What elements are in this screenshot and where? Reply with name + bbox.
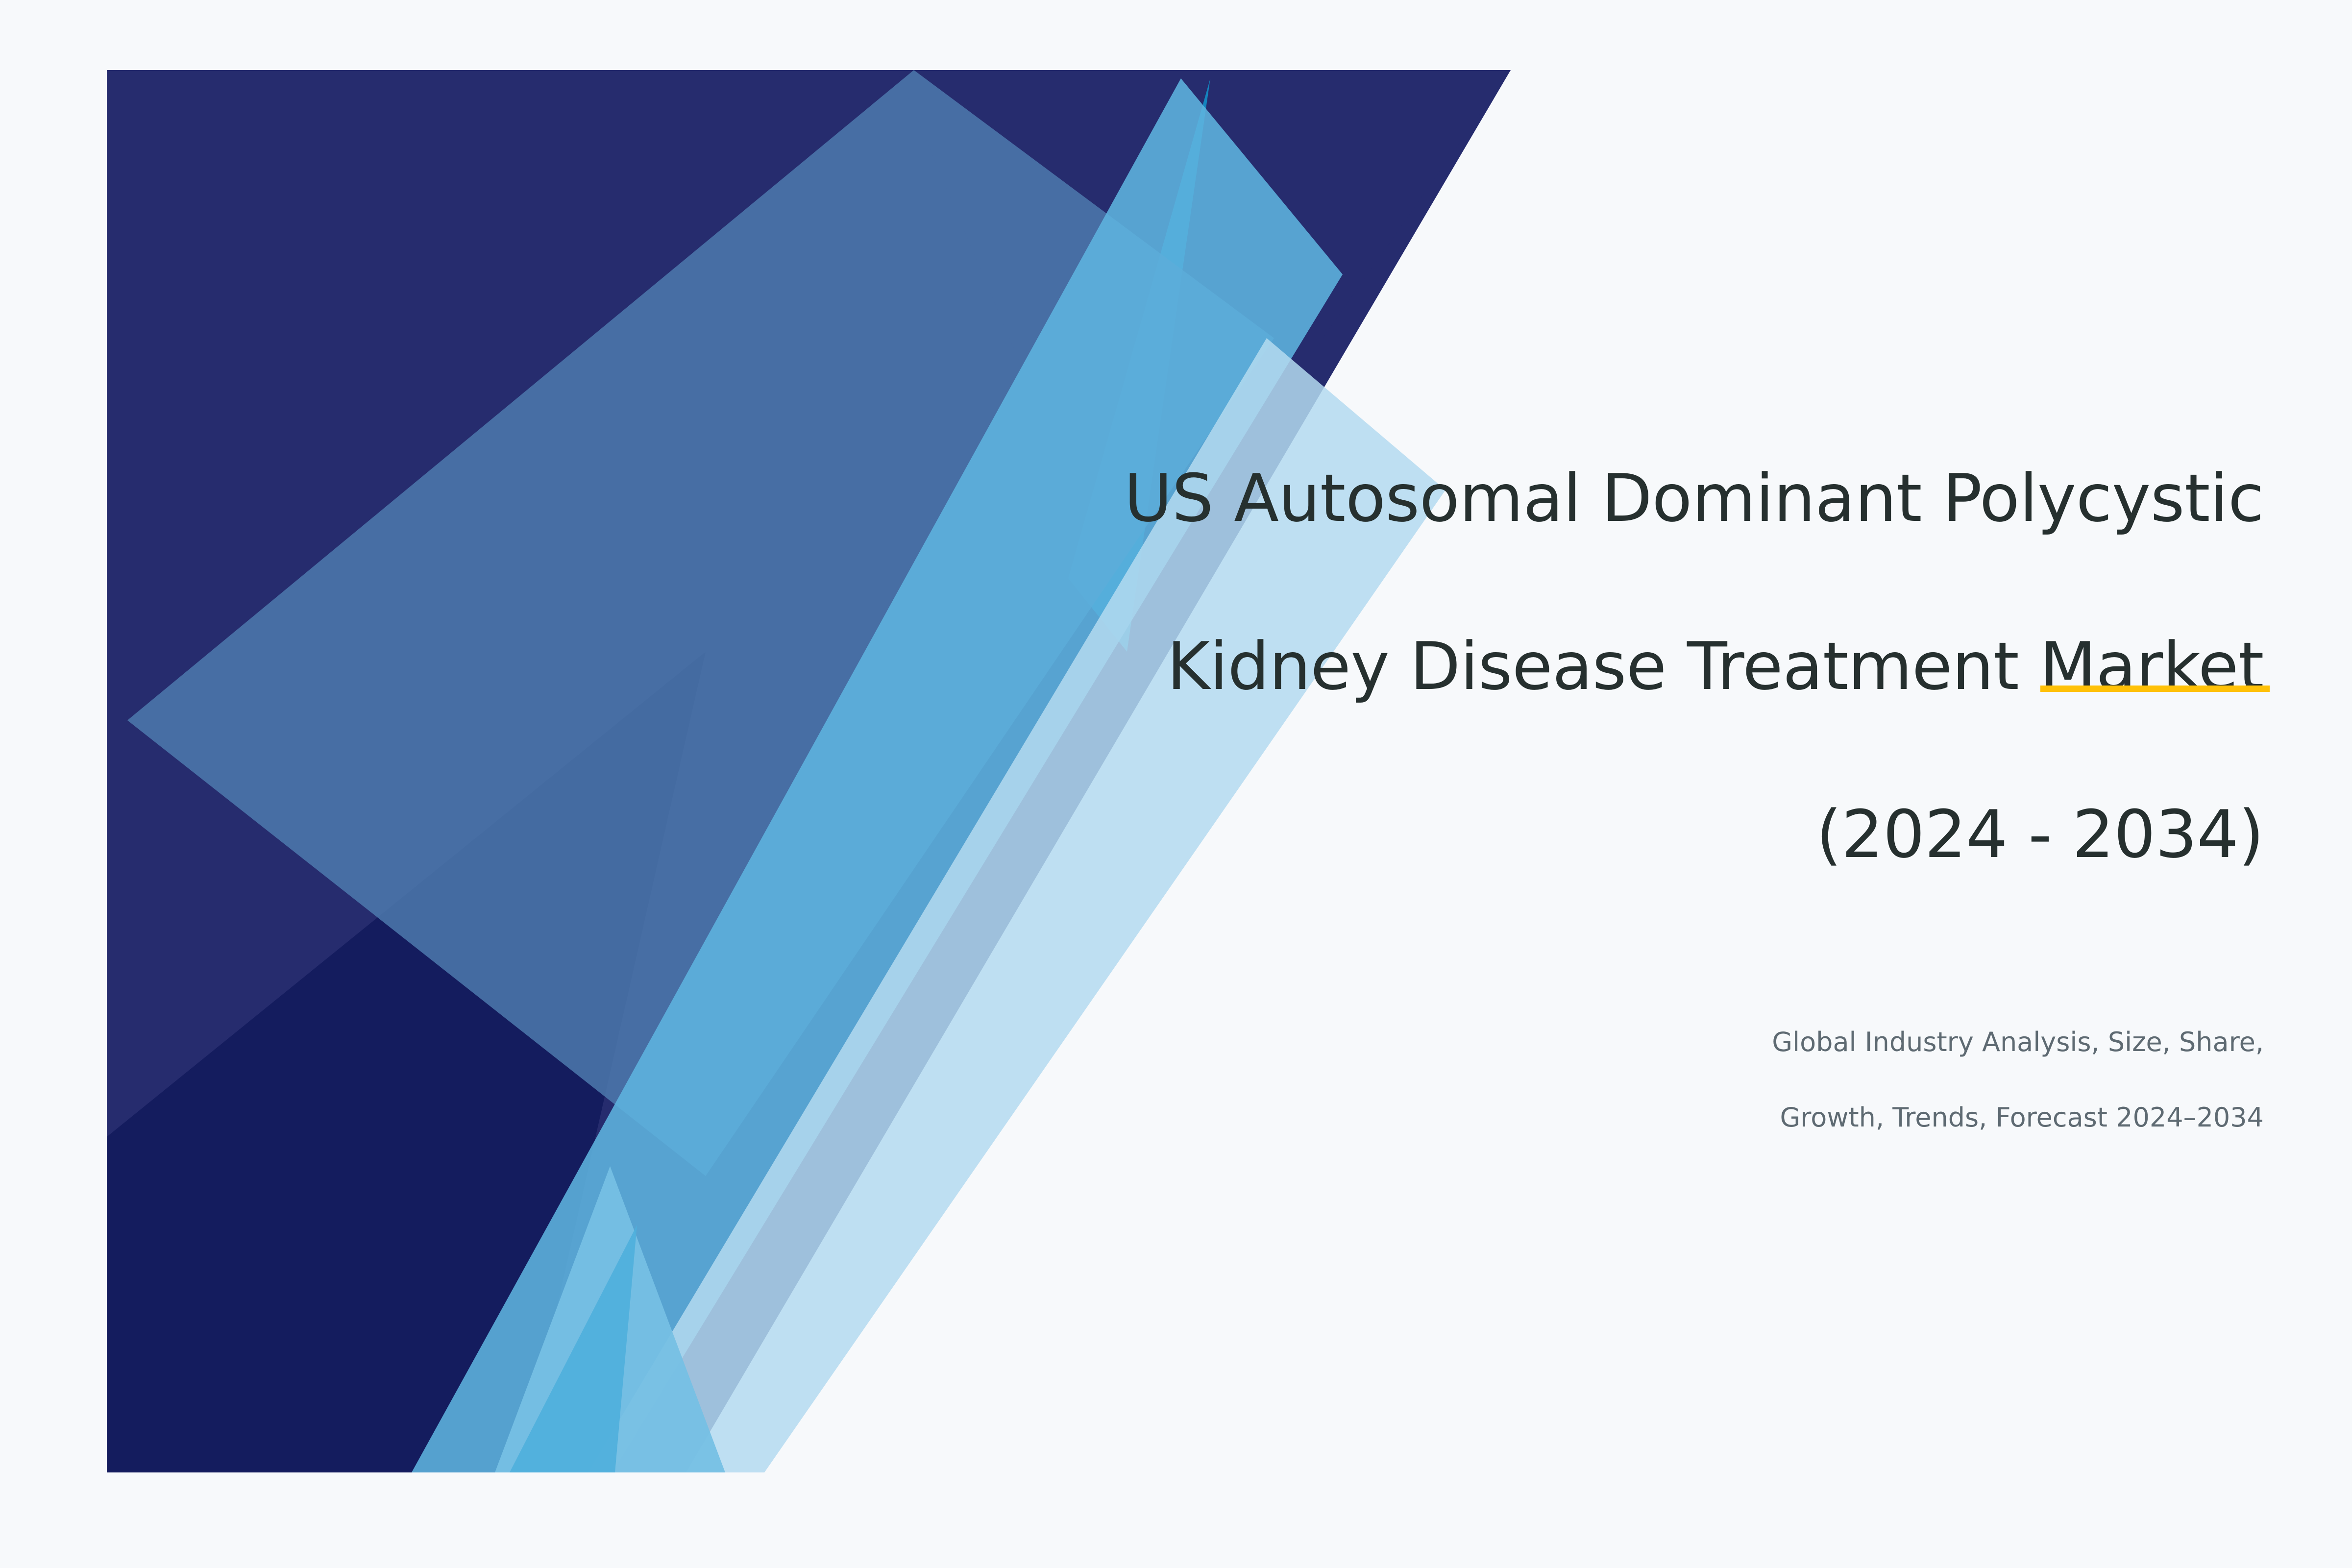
page-title-line-2-text: Kidney Disease Treatment: [1167, 628, 2039, 705]
shape-sky-inner-triangle: [495, 1166, 725, 1472]
page-subtitle: Global Industry Analysis, Size, Share, G…: [833, 986, 2264, 1174]
report-cover: US Autosomal Dominant Polycystic Kidney …: [0, 0, 2352, 1568]
page-subtitle-line-1: Global Industry Analysis, Size, Share,: [833, 1024, 2264, 1061]
page-title-line-1: US Autosomal Dominant Polycystic: [833, 457, 2264, 541]
page-title-line-2: Kidney Disease Treatment Market: [833, 625, 2264, 709]
page-title-line-3: (2024 - 2034): [833, 793, 2264, 877]
title-underline-accent: [2040, 686, 2270, 692]
shape-deep-navy-diagonal: [107, 652, 706, 1472]
page-title: US Autosomal Dominant Polycystic Kidney …: [833, 372, 2264, 961]
shape-cyan-bottom-edge: [510, 1225, 637, 1472]
page-title-accent-text: Market: [2039, 628, 2264, 705]
page-subtitle-line-2: Growth, Trends, Forecast 2024–2034: [833, 1099, 2264, 1137]
page-title-accent: Market: [2039, 625, 2264, 709]
title-block: US Autosomal Dominant Polycystic Kidney …: [833, 372, 2264, 1174]
shape-cyan-field: [107, 70, 921, 505]
